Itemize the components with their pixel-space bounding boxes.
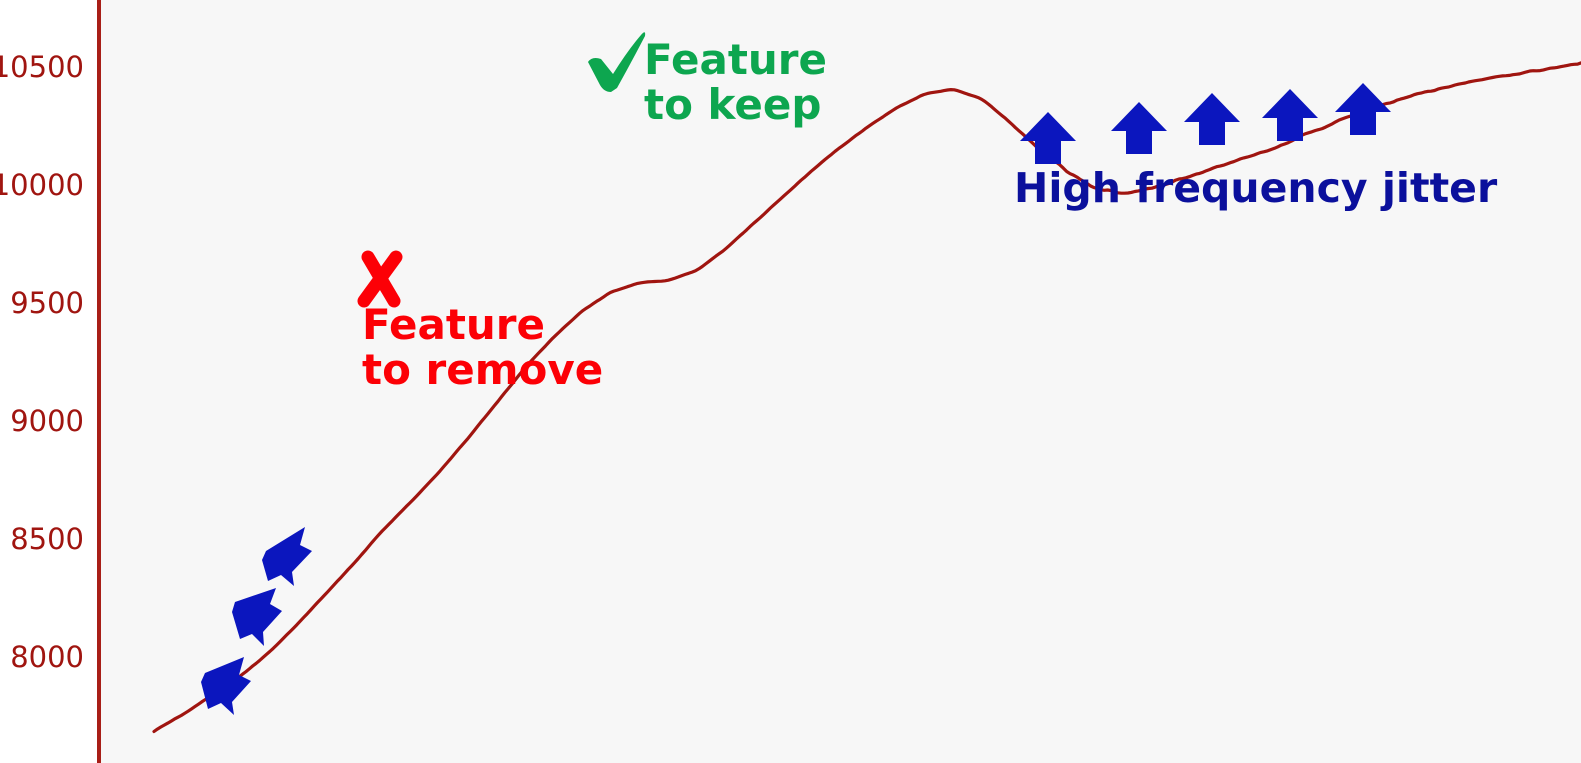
feature-to-remove-label: Feature to remove — [362, 303, 603, 392]
chart-canvas: 10500 10000 9500 9000 8500 8000 — [0, 0, 1581, 763]
cross-mark-icon — [364, 257, 396, 301]
high-frequency-jitter-label: High frequency jitter — [1014, 167, 1497, 210]
feature-to-keep-label: Feature to keep — [644, 38, 827, 127]
